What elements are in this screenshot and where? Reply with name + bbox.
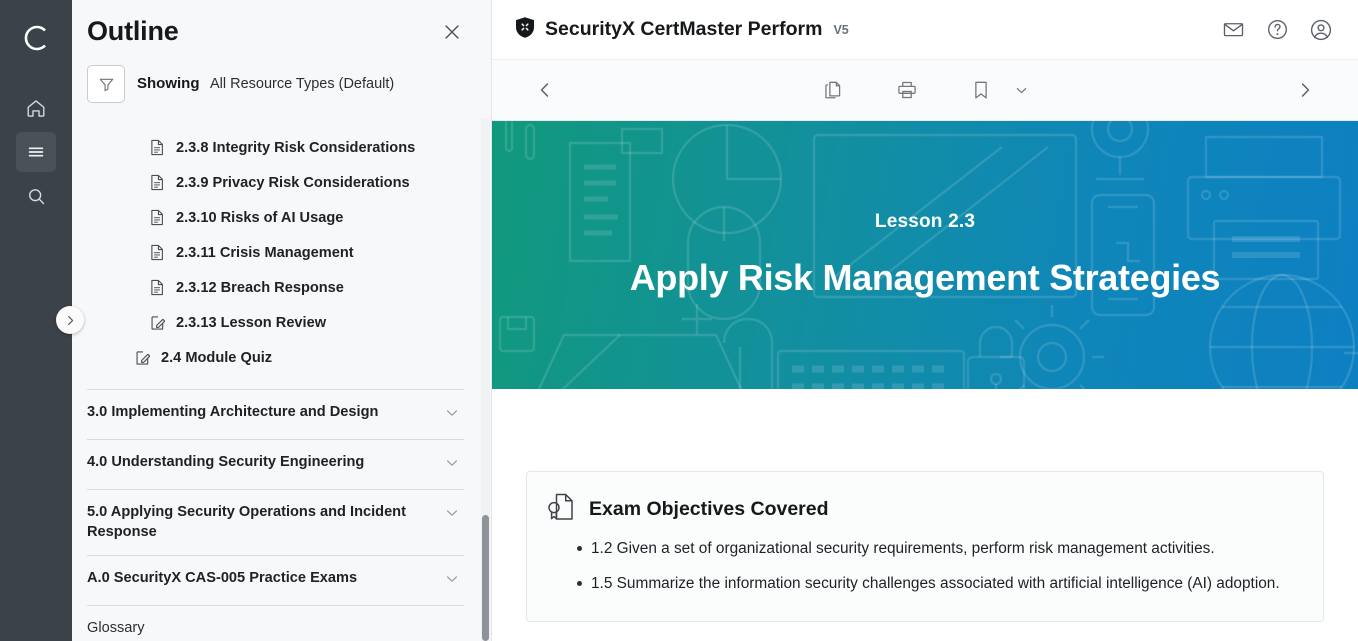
outline-section-label: A.0 SecurityX CAS-005 Practice Exams [87, 569, 357, 589]
exam-objectives-box: Exam Objectives Covered 1.2 Given a set … [526, 471, 1324, 622]
lesson-document: Lesson 2.3 Apply Risk Management Strateg… [492, 121, 1358, 641]
print-button[interactable] [892, 75, 922, 105]
list-item[interactable]: 2.3.12 Breach Response [72, 270, 479, 305]
brand: SecurityX CertMaster Perform V5 [514, 16, 849, 44]
outline-section-4[interactable]: 4.0 Understanding Security Engineering [87, 439, 464, 489]
page-title: Outline [87, 16, 179, 47]
lesson-hero-banner: Lesson 2.3 Apply Risk Management Strateg… [492, 121, 1358, 389]
outline-section-label: 4.0 Understanding Security Engineering [87, 453, 364, 473]
list-item-label: 2.3.8 Integrity Risk Considerations [176, 140, 415, 156]
account-button[interactable] [1308, 17, 1334, 43]
outline-section-3[interactable]: 3.0 Implementing Architecture and Design [87, 389, 464, 439]
outline-section-label: 5.0 Applying Security Operations and Inc… [87, 503, 407, 542]
topbar-actions [1220, 17, 1334, 43]
edit-pencil-icon [135, 349, 151, 366]
list-item[interactable]: 2.3.9 Privacy Risk Considerations [72, 165, 479, 200]
sidebar-item-home[interactable] [16, 88, 56, 128]
list-item[interactable]: 2.4 Module Quiz [72, 340, 479, 375]
outline-section-a[interactable]: A.0 SecurityX CAS-005 Practice Exams [87, 555, 464, 605]
hero-title: Apply Risk Management Strategies [630, 257, 1221, 299]
certificate-icon [547, 492, 575, 527]
document-icon [150, 209, 166, 226]
bookmark-icon [970, 79, 992, 101]
search-icon [26, 186, 47, 207]
tech-pattern-decoration [492, 121, 1358, 389]
list-item: 1.5 Summarize the information security c… [577, 571, 1299, 597]
copy-icon [822, 79, 844, 101]
outline-section-label: 3.0 Implementing Architecture and Design [87, 403, 378, 423]
close-outline-button[interactable] [437, 17, 467, 47]
content-area: SecurityX CertMaster Perform V5 [492, 0, 1358, 641]
filter-icon [97, 75, 116, 94]
shield-icon [514, 16, 536, 44]
list-item-label: 2.3.13 Lesson Review [176, 315, 326, 331]
sidebar-item-outline[interactable] [16, 132, 56, 172]
app-topbar: SecurityX CertMaster Perform V5 [492, 0, 1358, 60]
chevron-down-icon [1014, 83, 1029, 98]
chevron-down-icon [444, 505, 460, 526]
list-item-label: 2.3.9 Privacy Risk Considerations [176, 175, 410, 191]
exam-objectives-title: Exam Objectives Covered [589, 498, 829, 521]
outline-section-glossary[interactable]: Glossary [87, 605, 464, 641]
list-item-label: 2.3.10 Risks of AI Usage [176, 210, 343, 226]
copy-button[interactable] [818, 75, 848, 105]
document-icon [150, 139, 166, 156]
next-page-button[interactable] [1288, 73, 1322, 107]
outline-section-5[interactable]: 5.0 Applying Security Operations and Inc… [87, 489, 464, 555]
brand-version: V5 [833, 23, 848, 37]
outline-section-label: Glossary [87, 619, 145, 639]
help-button[interactable] [1264, 17, 1290, 43]
showing-label: Showing [137, 75, 200, 92]
page-toolbar [492, 60, 1358, 121]
list-item: 1.2 Given a set of organizational securi… [577, 536, 1299, 562]
document-icon [150, 244, 166, 261]
chevron-down-icon [444, 405, 460, 426]
outline-sections: 3.0 Implementing Architecture and Design… [72, 389, 479, 641]
outline-scrollbar-thumb[interactable] [482, 515, 489, 641]
mail-icon [1222, 18, 1245, 41]
showing-value[interactable]: All Resource Types (Default) [210, 76, 394, 92]
exam-objectives-list: 1.2 Given a set of organizational securi… [547, 536, 1299, 597]
app-root: Outline Showing All Resource Types (Defa… [0, 0, 1358, 641]
outline-header: Outline [72, 0, 491, 57]
list-item[interactable]: 2.3.13 Lesson Review [72, 305, 479, 340]
list-item-label: 2.3.11 Crisis Management [176, 245, 354, 261]
print-icon [896, 79, 918, 101]
mail-button[interactable] [1220, 17, 1246, 43]
exam-objectives-header: Exam Objectives Covered [547, 492, 1299, 527]
chevron-right-icon [64, 314, 77, 327]
close-icon [441, 21, 463, 43]
account-icon [1309, 18, 1333, 42]
outline-scroll-region: 2.3.8 Integrity Risk Considerations 2.3.… [72, 130, 491, 641]
hero-lesson-label: Lesson 2.3 [875, 211, 975, 233]
sidebar-item-search[interactable] [16, 176, 56, 216]
chevron-down-icon [444, 455, 460, 476]
list-item[interactable]: 2.3.10 Risks of AI Usage [72, 200, 479, 235]
previous-page-button[interactable] [528, 73, 562, 107]
home-icon [25, 97, 47, 119]
edit-pencil-icon [150, 314, 166, 331]
filter-row: Showing All Resource Types (Default) [72, 57, 491, 117]
list-item-label: 2.4 Module Quiz [161, 350, 272, 366]
lesson-body: Exam Objectives Covered 1.2 Given a set … [492, 471, 1358, 641]
chevron-down-icon [444, 571, 460, 592]
bookmark-button[interactable] [966, 75, 996, 105]
filter-button[interactable] [87, 65, 125, 103]
document-icon [150, 174, 166, 191]
bookmark-options-button[interactable] [1010, 79, 1032, 101]
chevron-right-icon [1295, 80, 1315, 100]
outline-panel: Outline Showing All Resource Types (Defa… [72, 0, 492, 641]
outline-menu-icon [25, 141, 47, 163]
left-nav-rail [0, 0, 72, 641]
document-icon [150, 279, 166, 296]
chevron-left-icon [535, 80, 555, 100]
list-item[interactable]: 2.3.8 Integrity Risk Considerations [72, 130, 479, 165]
brand-name: SecurityX CertMaster Perform [545, 18, 822, 41]
help-icon [1266, 18, 1289, 41]
list-item-label: 2.3.12 Breach Response [176, 280, 344, 296]
toolbar-actions [492, 75, 1358, 105]
expand-nav-button[interactable] [56, 306, 84, 334]
list-item[interactable]: 2.3.11 Crisis Management [72, 235, 479, 270]
comptia-c-logo-icon[interactable] [16, 18, 56, 58]
